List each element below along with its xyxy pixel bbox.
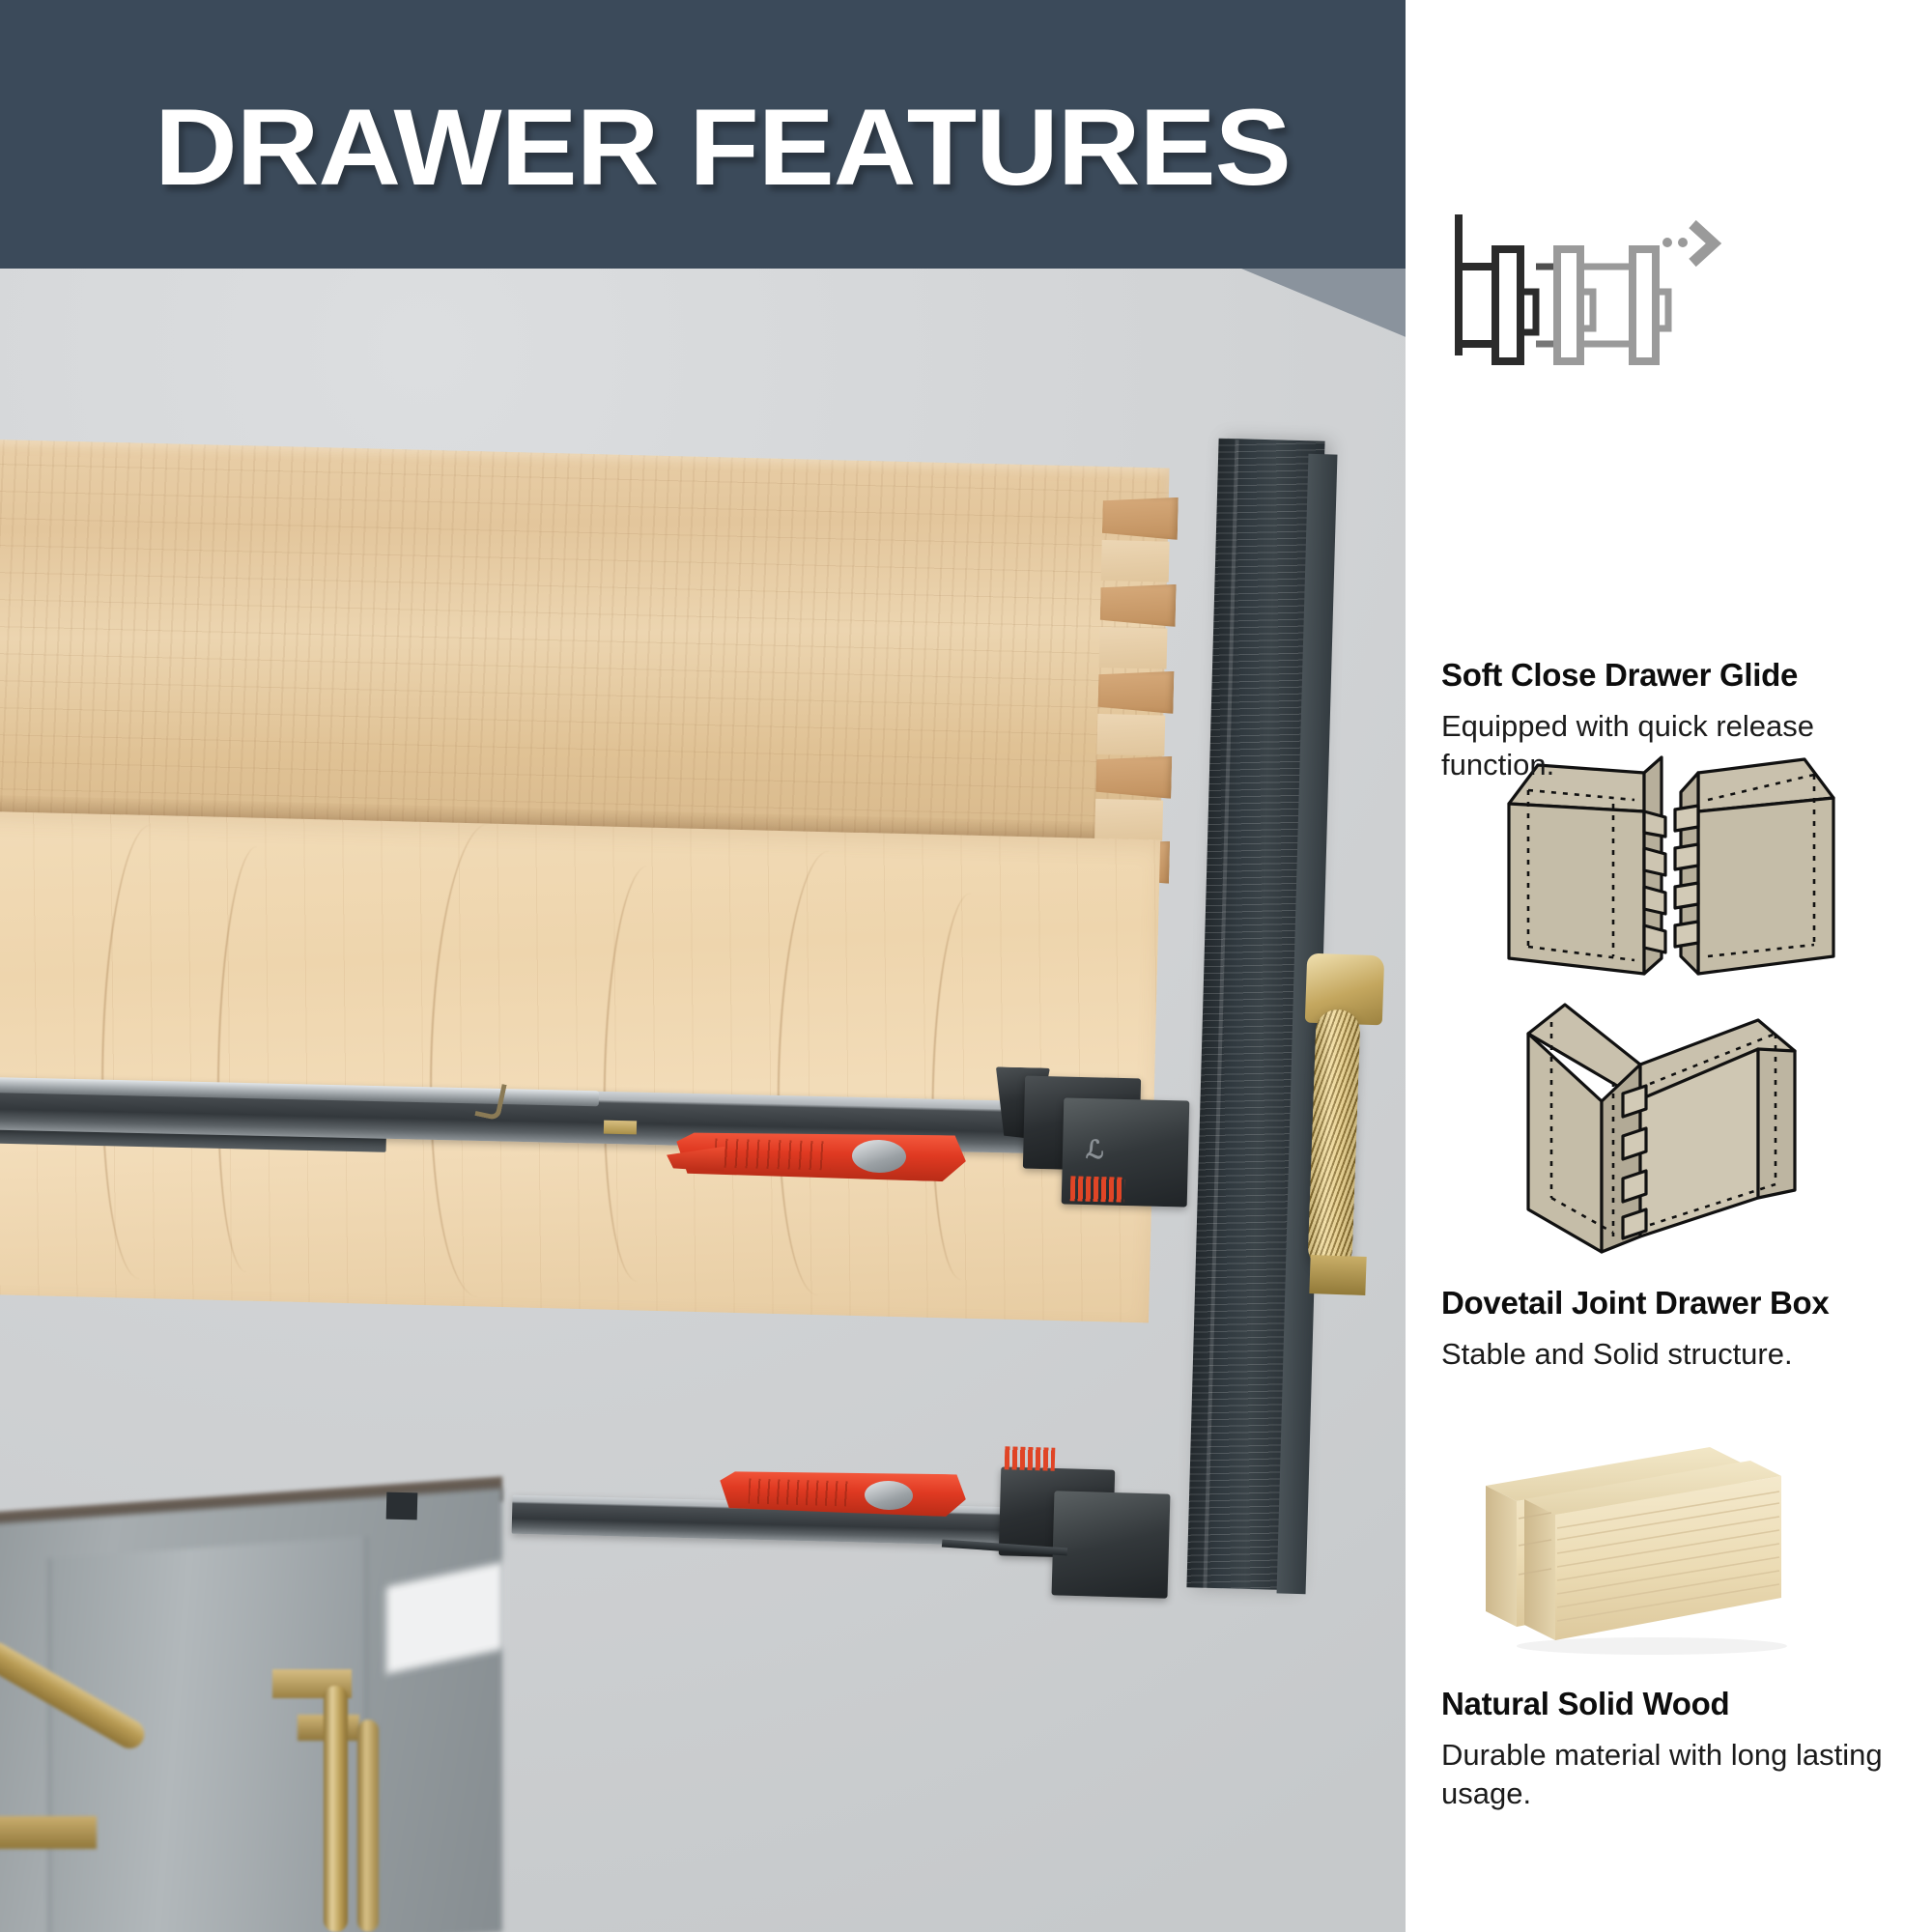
- slide-red-gear-lower: [1005, 1446, 1056, 1470]
- infographic-canvas: ℒ DRAWER FEATURES: [0, 0, 1932, 1932]
- drawer-box: [0, 439, 1237, 1320]
- feature-title: Soft Close Drawer Glide: [1406, 657, 1932, 694]
- cabinet-pull-foot: [0, 1816, 97, 1849]
- brass-pull-foot: [1309, 1255, 1366, 1295]
- slide-mount-square: [386, 1492, 418, 1520]
- page-title: DRAWER FEATURES: [155, 85, 1291, 210]
- solid-wood-planks-icon: [1468, 1439, 1874, 1666]
- drawer-cutaway-photo: ℒ: [0, 0, 1406, 1932]
- brass-bar-pull: [1307, 1009, 1360, 1270]
- drawer-glide-icon: [1449, 211, 1739, 409]
- feature-block-dovetail: Dovetail Joint Drawer Box Stable and Sol…: [1406, 1285, 1932, 1374]
- cabinet-brass-pull-2: [357, 1719, 379, 1932]
- feature-title: Natural Solid Wood: [1406, 1686, 1932, 1722]
- slide-brand-logo: ℒ: [1086, 1135, 1120, 1165]
- slide-clip-lower: [1052, 1491, 1171, 1598]
- drawer-bottom-panel: [0, 810, 1160, 1323]
- slide-brass-tab: [604, 1121, 637, 1135]
- slide-red-gear-upper: [1070, 1176, 1125, 1202]
- dovetail-pins: [1094, 496, 1196, 884]
- feature-title: Dovetail Joint Drawer Box: [1406, 1285, 1932, 1321]
- feature-block-solid-wood: Natural Solid Wood Durable material with…: [1406, 1686, 1932, 1812]
- feature-description: Stable and Solid structure.: [1406, 1335, 1932, 1374]
- lever-ribs-upper: [715, 1139, 832, 1171]
- cabinet-brass-pull-1: [324, 1686, 348, 1932]
- drawer-side-panel: [0, 439, 1170, 845]
- feature-block-soft-close: Soft Close Drawer Glide Equipped with qu…: [1406, 657, 1932, 783]
- feature-description: Durable material with long lasting usage…: [1406, 1736, 1932, 1812]
- dovetail-joint-icon: [1468, 715, 1874, 1270]
- lever-ribs-lower: [749, 1479, 851, 1507]
- feature-description: Equipped with quick release function.: [1406, 707, 1932, 783]
